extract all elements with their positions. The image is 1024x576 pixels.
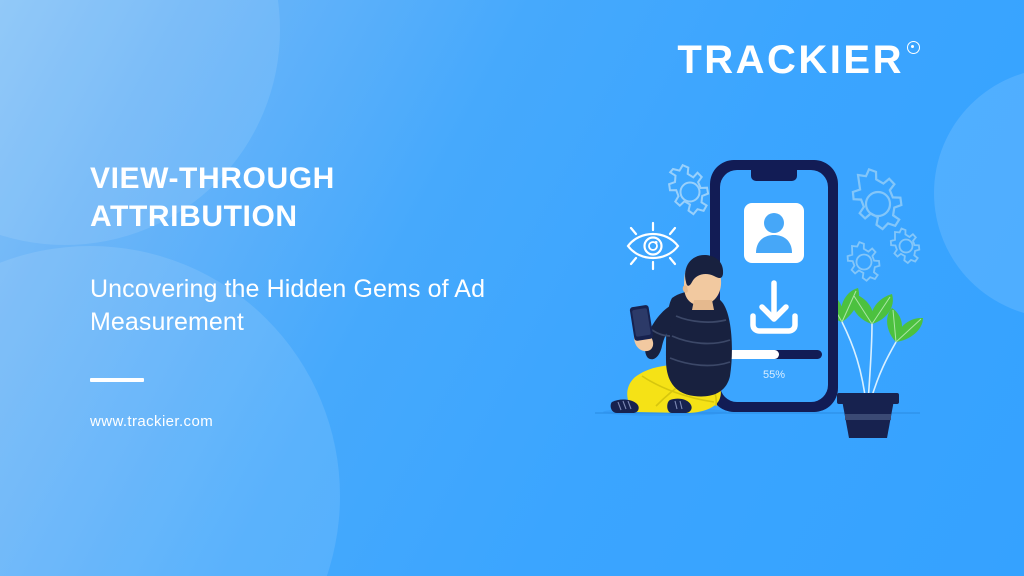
progress-fill: [726, 350, 779, 359]
page-title: VIEW-THROUGH ATTRIBUTION: [90, 160, 550, 237]
gear-icon: [853, 169, 902, 229]
registered-trademark-icon: [907, 41, 920, 54]
person-illustration: [603, 255, 732, 416]
gear-icon: [848, 242, 880, 281]
phone-notch: [751, 170, 797, 181]
plant-pot-band: [845, 414, 891, 420]
eye-icon: [628, 223, 678, 269]
person-neck: [692, 300, 714, 310]
gear-icon: [669, 165, 708, 214]
website-url[interactable]: www.trackier.com: [90, 413, 550, 430]
page-subtitle: Uncovering the Hidden Gems of Ad Measure…: [90, 273, 550, 340]
progress-label: 55%: [763, 369, 785, 381]
brand-logo[interactable]: TRACKIER: [677, 40, 920, 80]
copy-block: VIEW-THROUGH ATTRIBUTION Uncovering the …: [90, 160, 550, 430]
slide-canvas: TRACKIER VIEW-THROUGH ATTRIBUTION Uncove…: [0, 0, 1024, 576]
divider-rule: [90, 378, 144, 382]
brand-logo-text: TRACKIER: [677, 40, 904, 80]
gear-icon: [891, 229, 920, 264]
user-avatar-icon: [744, 203, 804, 263]
download-progress-bar: [726, 350, 822, 359]
plant-pot-rim: [837, 393, 899, 404]
hero-illustration: 55%: [590, 150, 950, 440]
